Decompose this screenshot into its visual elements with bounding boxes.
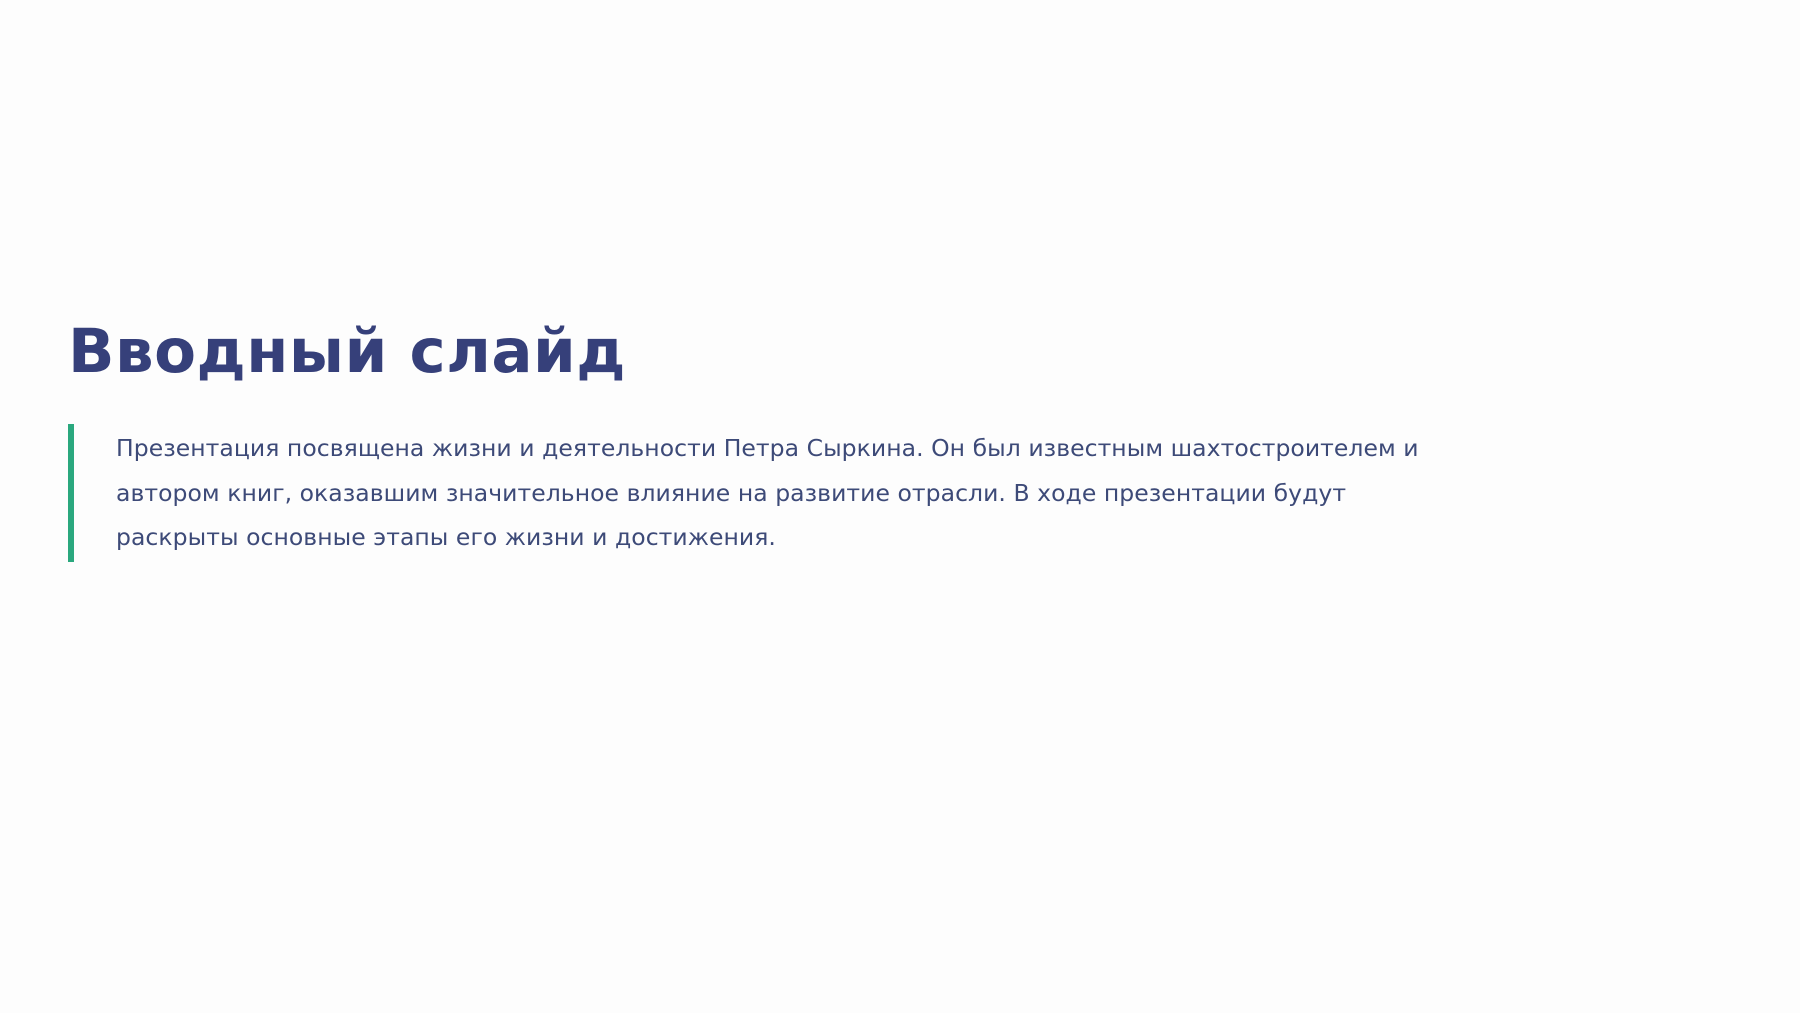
body-text-block: Презентация посвящена жизни и деятельнос… [68, 424, 1508, 562]
slide-content-block: Вводный слайд Презентация посвящена жизн… [68, 318, 1508, 562]
presentation-slide: Вводный слайд Презентация посвящена жизн… [0, 0, 1800, 1013]
page-title: Вводный слайд [68, 318, 1508, 386]
accent-bar [68, 424, 74, 562]
slide-body-paragraph: Презентация посвящена жизни и деятельнос… [116, 424, 1466, 562]
